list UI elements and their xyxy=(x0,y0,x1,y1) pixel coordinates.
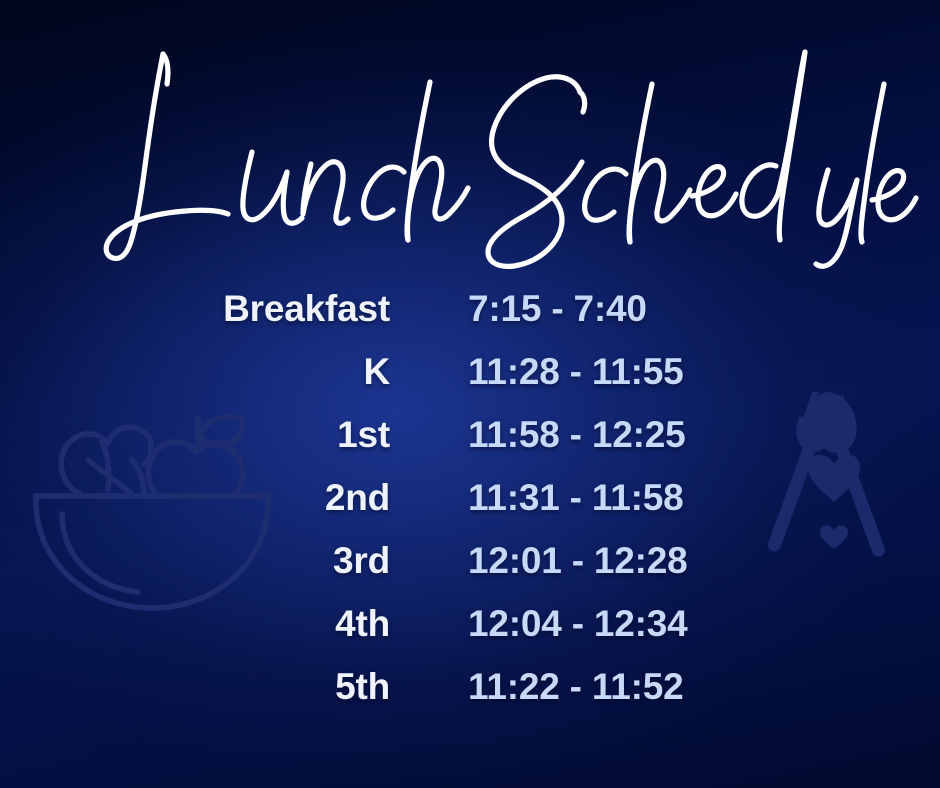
schedule-label: K xyxy=(0,351,390,393)
schedule-label: Breakfast xyxy=(0,288,390,330)
schedule-label: 3rd xyxy=(0,540,390,582)
table-row: 2nd 11:31 - 11:58 xyxy=(0,477,940,540)
schedule-label: 2nd xyxy=(0,477,390,519)
schedule-time: 7:15 - 7:40 xyxy=(468,288,647,330)
table-row: 4th 12:04 - 12:34 xyxy=(0,603,940,666)
schedule-time: 11:28 - 11:55 xyxy=(468,351,683,393)
table-row: 1st 11:58 - 12:25 xyxy=(0,414,940,477)
schedule-time: 11:58 - 12:25 xyxy=(468,414,686,456)
table-row: K 11:28 - 11:55 xyxy=(0,351,940,414)
page-title-script xyxy=(0,24,940,288)
table-row: 3rd 12:01 - 12:28 xyxy=(0,540,940,603)
page-title: Lunch Schedule xyxy=(0,24,940,288)
schedule-time: 11:31 - 11:58 xyxy=(468,477,683,519)
lunch-schedule-poster: Lunch Schedule Breakfast 7:15 - 7:40 K 1… xyxy=(0,0,940,788)
table-row: Breakfast 7:15 - 7:40 xyxy=(0,288,940,351)
schedule-table: Breakfast 7:15 - 7:40 K 11:28 - 11:55 1s… xyxy=(0,288,940,729)
schedule-time: 12:01 - 12:28 xyxy=(468,540,688,582)
table-row: 5th 11:22 - 11:52 xyxy=(0,666,940,729)
schedule-label: 5th xyxy=(0,666,390,708)
schedule-time: 12:04 - 12:34 xyxy=(468,603,688,645)
schedule-label: 4th xyxy=(0,603,390,645)
schedule-time: 11:22 - 11:52 xyxy=(468,666,683,708)
schedule-label: 1st xyxy=(0,414,390,456)
